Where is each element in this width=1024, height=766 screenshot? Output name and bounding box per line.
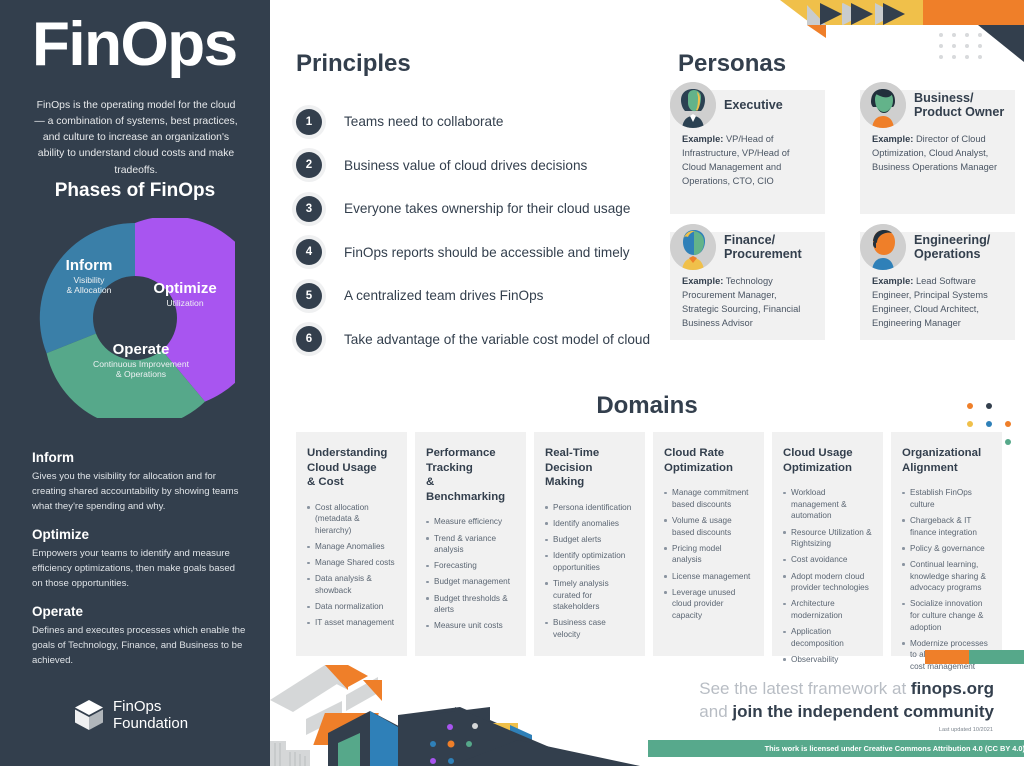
phase-detail-optimize-text: Empowers your teams to identify and meas… — [32, 547, 246, 592]
principle-number: 3 — [296, 196, 322, 222]
business-product-owner-avatar-icon — [860, 82, 906, 128]
domain-item: Identify optimization opportunities — [545, 550, 634, 573]
domain-item: Continual learning, knowledge sharing & … — [902, 559, 991, 594]
phases-donut-chart: Inform Visibility & Allocation Optimize … — [35, 218, 235, 418]
principle-text: A centralized team drives FinOps — [344, 288, 543, 303]
principle-item: 2 Business value of cloud drives decisio… — [296, 144, 656, 188]
foundation-line1: FinOps — [113, 698, 188, 715]
principle-text: Take advantage of the variable cost mode… — [344, 332, 650, 347]
phase-detail-operate-title: Operate — [32, 604, 246, 619]
principle-text: Teams need to collaborate — [344, 114, 503, 129]
principle-text: Everyone takes ownership for their cloud… — [344, 201, 630, 216]
persona-header: Engineering/ Operations — [860, 224, 990, 270]
sidebar: FinOps FinOps is the operating model for… — [0, 0, 270, 766]
license-bold-text: This work is licensed under Creative Com… — [765, 744, 1024, 753]
domain-item: Cost allocation (metadata & hierarchy) — [307, 502, 396, 537]
persona-name: Executive — [724, 98, 783, 112]
domain-item: Architecture modernization — [783, 598, 872, 621]
principle-number: 2 — [296, 152, 322, 178]
domains-title: Domains — [270, 392, 1024, 420]
domain-item: Measure unit costs — [426, 620, 515, 632]
phases-title: Phases of FinOps — [0, 180, 270, 202]
principle-item: 1 Teams need to collaborate — [296, 100, 656, 144]
principle-number: 6 — [296, 326, 322, 352]
domain-item: Application decomposition — [783, 626, 872, 649]
principles-list: 1 Teams need to collaborate 2 Business v… — [296, 100, 656, 361]
footer-cta: See the latest framework at finops.org a… — [534, 678, 994, 723]
principle-item: 3 Everyone takes ownership for their clo… — [296, 187, 656, 231]
phase-detail-operate: Operate Defines and executes processes w… — [32, 604, 246, 669]
domain-heading: Real-Time Decision Making — [545, 446, 634, 490]
domain-item: Business case velocity — [545, 617, 634, 640]
domain-item: Budget thresholds & alerts — [426, 593, 515, 616]
domains-columns: Understanding Cloud Usage & Cost Cost al… — [296, 432, 1002, 656]
persona-example-label: Example: — [682, 134, 723, 144]
persona-name: Engineering/ Operations — [914, 233, 990, 262]
footer-cta-line1: See the latest framework at finops.org — [534, 678, 994, 701]
donut-svg — [35, 218, 235, 418]
domain-item: Budget management — [426, 576, 515, 588]
domain-item-list: Workload management & automation Resourc… — [783, 487, 872, 665]
persona-card-engineering-operations: Engineering/ Operations Example: Lead So… — [860, 232, 1015, 340]
phase-detail-inform-title: Inform — [32, 450, 246, 465]
persona-card-finance-procurement: Finance/ Procurement Example: Technology… — [670, 232, 825, 340]
domain-item: Resource Utilization & Rightsizing — [783, 527, 872, 550]
domain-item-list: Cost allocation (metadata & hierarchy) M… — [307, 502, 396, 629]
cube-icon — [74, 699, 104, 731]
domain-heading: Understanding Cloud Usage & Cost — [307, 446, 396, 490]
main-content: Principles Personas Domains 1 Teams need… — [270, 0, 1024, 766]
persona-header: Executive — [670, 82, 783, 128]
domain-column-cloud-usage-optimization: Cloud Usage Optimization Workload manage… — [772, 432, 883, 656]
domain-item-list: Establish FinOps culture Chargeback & IT… — [902, 487, 991, 672]
last-updated: Last updated 10/2021 — [939, 727, 993, 733]
domain-item: Forecasting — [426, 560, 515, 572]
domain-item: Volume & usage based discounts — [664, 515, 753, 538]
phase-detail-inform-text: Gives you the visibility for allocation … — [32, 470, 246, 515]
footer-cta-second-prefix: and — [699, 702, 732, 721]
footer-cta-prefix: See the latest framework at — [699, 679, 911, 698]
domain-item: Timely analysis curated for stakeholders — [545, 578, 634, 613]
domain-item: IT asset management — [307, 617, 396, 629]
domain-item: Trend & variance analysis — [426, 533, 515, 556]
brand-title: FinOps — [32, 14, 237, 76]
domain-item: Observability — [783, 654, 872, 666]
principle-number: 1 — [296, 109, 322, 135]
brand-description: FinOps is the operating model for the cl… — [32, 98, 240, 179]
footer-cta-link[interactable]: finops.org — [911, 679, 994, 698]
principle-item: 6 Take advantage of the variable cost mo… — [296, 318, 656, 362]
domain-column-real-time-decision-making: Real-Time Decision Making Persona identi… — [534, 432, 645, 656]
domain-item: Budget alerts — [545, 534, 634, 546]
domain-item: Measure efficiency — [426, 516, 515, 528]
domain-column-organizational-alignment: Organizational Alignment Establish FinOp… — [891, 432, 1002, 656]
principle-text: FinOps reports should be accessible and … — [344, 245, 630, 260]
executive-avatar-icon — [670, 82, 716, 128]
domain-item: Cost avoidance — [783, 554, 872, 566]
footer-cta-line2: and join the independent community — [534, 701, 994, 724]
engineering-operations-avatar-icon — [860, 224, 906, 270]
domain-item: Adopt modern cloud provider technologies — [783, 571, 872, 594]
domain-item: Chargeback & IT finance integration — [902, 515, 991, 538]
domain-item-list: Manage commitment based discounts Volume… — [664, 487, 753, 621]
finance-procurement-avatar-icon — [670, 224, 716, 270]
domain-item: Socialize innovation for culture change … — [902, 598, 991, 633]
domain-item: Policy & governance — [902, 543, 991, 555]
domain-column-understanding-cloud-usage-cost: Understanding Cloud Usage & Cost Cost al… — [296, 432, 407, 656]
domain-item: Leverage unused cloud provider capacity — [664, 587, 753, 622]
donut-hole — [93, 276, 177, 360]
persona-card-business-product-owner: Business/ Product Owner Example: Directo… — [860, 90, 1015, 214]
finops-foundation-logo: FinOps Foundation — [74, 698, 188, 732]
domain-item: Pricing model analysis — [664, 543, 753, 566]
persona-name: Business/ Product Owner — [914, 91, 1004, 120]
domain-heading: Cloud Usage Optimization — [783, 446, 872, 475]
persona-card-executive: Executive Example: VP/Head of Infrastruc… — [670, 90, 825, 214]
principle-item: 4 FinOps reports should be accessible an… — [296, 231, 656, 275]
license-banner: This work is licensed under Creative Com… — [648, 740, 1024, 757]
finops-poster: FinOps FinOps is the operating model for… — [0, 0, 1024, 766]
principle-number: 4 — [296, 239, 322, 265]
domain-item: Manage Shared costs — [307, 557, 396, 569]
domain-heading: Performance Tracking & Benchmarking — [426, 446, 515, 504]
persona-header: Business/ Product Owner — [860, 82, 1004, 128]
domain-item: Data analysis & showback — [307, 573, 396, 596]
domain-heading: Organizational Alignment — [902, 446, 991, 475]
domain-item: Modernize processes to align with cloud … — [902, 638, 991, 673]
principle-item: 5 A centralized team drives FinOps — [296, 274, 656, 318]
persona-example: Example: Technology Procurement Manager,… — [682, 274, 813, 331]
phase-detail-optimize: Optimize Empowers your teams to identify… — [32, 527, 246, 592]
persona-header: Finance/ Procurement — [670, 224, 802, 270]
persona-example-label: Example: — [872, 276, 913, 286]
domain-item: Manage commitment based discounts — [664, 487, 753, 510]
persona-example: Example: Lead Software Engineer, Princip… — [872, 274, 1003, 331]
phase-detail-optimize-title: Optimize — [32, 527, 246, 542]
phase-detail-operate-text: Defines and executes processes which ena… — [32, 624, 246, 669]
principle-number: 5 — [296, 283, 322, 309]
persona-example-label: Example: — [682, 276, 723, 286]
domain-item: Workload management & automation — [783, 487, 872, 522]
foundation-text: FinOps Foundation — [113, 698, 188, 732]
persona-example-label: Example: — [872, 134, 913, 144]
footer-cta-join-link[interactable]: join the independent community — [732, 702, 994, 721]
principles-title: Principles — [296, 50, 411, 78]
domain-item: Persona identification — [545, 502, 634, 514]
foundation-line2: Foundation — [113, 715, 188, 732]
domain-column-performance-tracking-benchmarking: Performance Tracking & Benchmarking Meas… — [415, 432, 526, 656]
domain-column-cloud-rate-optimization: Cloud Rate Optimization Manage commitmen… — [653, 432, 764, 656]
persona-example: Example: Director of Cloud Optimization,… — [872, 132, 1003, 174]
domain-item: Establish FinOps culture — [902, 487, 991, 510]
domain-item: Data normalization — [307, 601, 396, 613]
phase-detail-inform: Inform Gives you the visibility for allo… — [32, 450, 246, 515]
domain-heading: Cloud Rate Optimization — [664, 446, 753, 475]
personas-title: Personas — [678, 50, 786, 78]
domain-item: License management — [664, 571, 753, 583]
persona-example: Example: VP/Head of Infrastructure, VP/H… — [682, 132, 813, 189]
domain-item-list: Persona identification Identify anomalie… — [545, 502, 634, 641]
persona-name: Finance/ Procurement — [724, 233, 802, 262]
domain-item-list: Measure efficiency Trend & variance anal… — [426, 516, 515, 632]
domain-item: Identify anomalies — [545, 518, 634, 530]
domain-item: Manage Anomalies — [307, 541, 396, 553]
principle-text: Business value of cloud drives decisions — [344, 158, 587, 173]
